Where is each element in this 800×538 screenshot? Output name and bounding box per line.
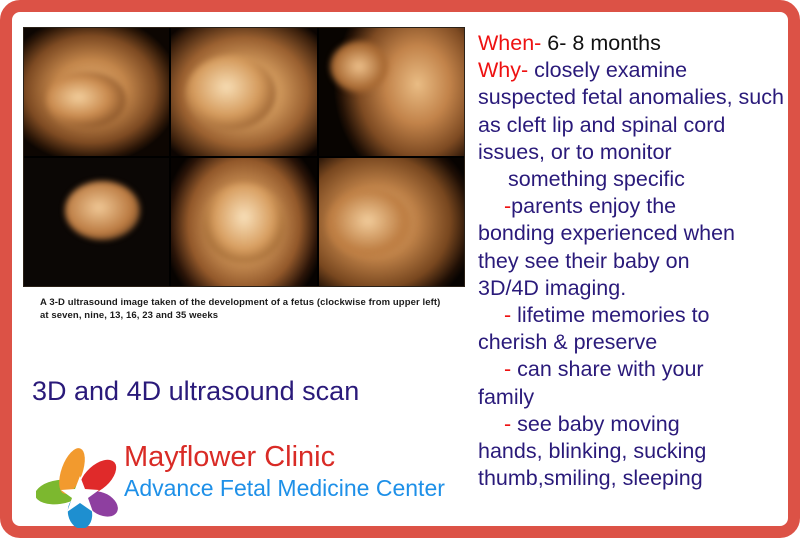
ultrasound-image-23-weeks [171,158,316,286]
logo-text-block: Mayflower Clinic Advance Fetal Medicine … [124,440,445,502]
why-line: Why- closely examine suspected fetal ano… [478,57,790,166]
fetus-shape-icon [47,72,125,128]
ultrasound-image-16-weeks [319,158,464,286]
figure-caption-line-2: at seven, nine, 13, 16, 23 and 35 weeks [40,309,476,322]
why-body-tail: something specific [478,166,790,193]
bullet-4-text: see baby moving [517,412,680,436]
page-title: 3D and 4D ultrasound scan [32,376,359,407]
bullet-2: - lifetime memories to [478,302,790,329]
when-line: When- 6- 8 months [478,30,790,57]
ultrasound-grid [24,28,464,286]
clinic-tagline: Advance Fetal Medicine Center [124,474,445,502]
info-text-block: When- 6- 8 months Why- closely examine s… [478,30,790,492]
figure-caption: A 3-D ultrasound image taken of the deve… [40,296,476,322]
flower-petals-logo-icon [36,442,128,528]
ultrasound-image-9-weeks [171,28,316,156]
bullet-2-cont-1: cherish & preserve [478,329,790,356]
bullet-4: - see baby moving [478,411,790,438]
bullet-3-cont-1: family [478,384,790,411]
bullet-1-cont-1: bonding experienced when [478,220,790,247]
bullet-3: - can share with your [478,356,790,383]
ultrasound-image-7-weeks [24,28,169,156]
logo-lockup: Mayflower Clinic Advance Fetal Medicine … [36,436,466,528]
bullet-2-label: lifetime memories to [517,303,709,327]
bullet-1-cont-2: they see their baby on [478,248,790,275]
fetus-shape-icon [330,41,388,92]
bullet-4-cont-1: hands, blinking, sucking [478,438,790,465]
clinic-name: Mayflower Clinic [124,440,445,474]
bullet-3-text: can share with your [517,357,703,381]
bullet-1-text: parents enjoy the [511,194,676,218]
fetus-shape-icon [186,56,276,130]
when-value: 6- 8 months [541,31,661,55]
fetus-shape-icon [65,181,141,240]
poster-frame: A 3-D ultrasound image taken of the deve… [0,0,800,538]
ultrasound-montage [24,28,464,286]
when-label: When- [478,31,541,55]
bullet-1-cont-3: 3D/4D imaging. [478,275,790,302]
left-column: A 3-D ultrasound image taken of the deve… [24,28,476,526]
fetus-shape-icon [327,189,411,258]
why-label: Why- [478,58,528,82]
ultrasound-image-13-weeks [319,28,464,156]
bullet-1: -parents enjoy the [478,193,790,220]
fetus-shape-icon [203,184,284,263]
figure-caption-line-1: A 3-D ultrasound image taken of the deve… [40,296,476,309]
ultrasound-image-35-weeks [24,158,169,286]
bullet-4-cont-2: thumb,smiling, sleeping [478,465,790,492]
